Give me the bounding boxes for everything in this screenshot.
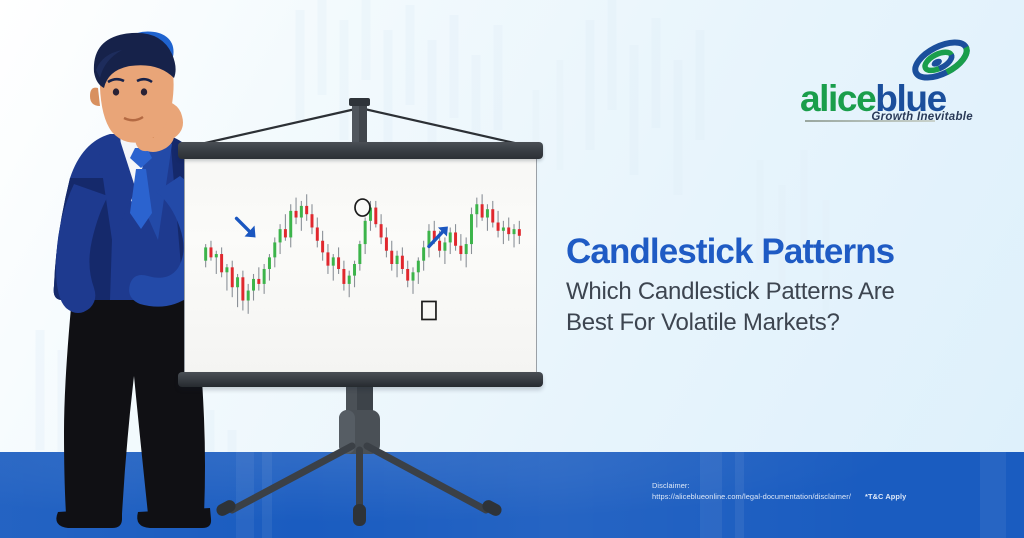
disclaimer-block: Disclaimer: https://aliceblueonline.com/… [652,481,982,502]
screen-top-bar [178,142,543,159]
logo-tagline: Growth Inevitable [871,111,973,123]
subtitle-line-2: Best For Volatile Markets? [566,308,996,338]
screen-bottom-bar [178,372,543,387]
head [90,33,176,143]
projection-surface [184,155,537,377]
page-title: Candlestick Patterns [566,234,996,270]
tripod-stand [170,384,550,538]
aliceblue-logo[interactable]: aliceblue Growth Inevitable [800,36,980,128]
page-subtitle: Which Candlestick Patterns Are Best For … [566,277,996,337]
logo-word-alice: alice [800,78,875,119]
subtitle-line-1: Which Candlestick Patterns Are [566,277,996,307]
disclaimer-url[interactable]: https://aliceblueonline.com/legal-docume… [652,492,851,503]
terms-conditions-note: *T&C Apply [865,492,906,503]
headline-block: Candlestick Patterns Which Candlestick P… [566,234,996,338]
disclaimer-label: Disclaimer: [652,481,851,492]
poster-canvas: aliceblue Growth Inevitable Candlestick … [0,0,1024,538]
swirl-ellipse-icon [910,36,972,84]
tripod-projector-screen [170,96,550,538]
candle-series [204,194,521,314]
candlestick-chart [185,155,537,377]
